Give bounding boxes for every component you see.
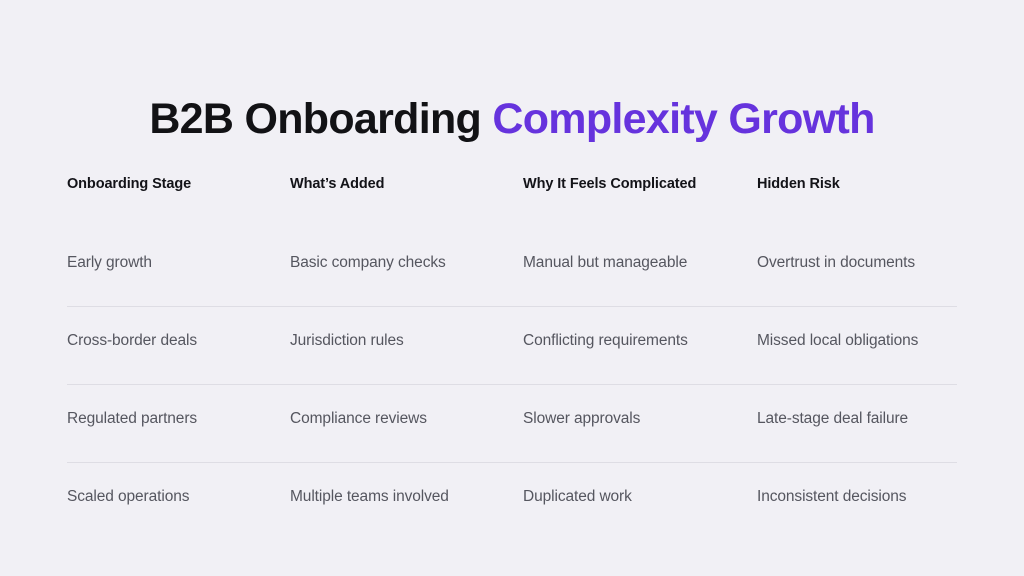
table-cell-risk: Late-stage deal failure	[757, 385, 957, 428]
table-cell-added: Compliance reviews	[290, 385, 523, 428]
table-cell-added: Jurisdiction rules	[290, 307, 523, 350]
table-column-header-onboarding-stage: Onboarding Stage	[67, 170, 290, 192]
table-row: Cross-border deals Jurisdiction rules Co…	[67, 307, 957, 385]
table-header-row: Onboarding Stage What’s Added Why It Fee…	[67, 170, 957, 229]
table-cell-complication: Slower approvals	[523, 385, 757, 428]
table-row: Early growth Basic company checks Manual…	[67, 229, 957, 307]
table-column-header-why-it-feels-complicated: Why It Feels Complicated	[523, 170, 757, 192]
table-cell-complication: Duplicated work	[523, 463, 757, 506]
page-title: B2B Onboarding Complexity Growth	[0, 95, 1024, 144]
page-title-accent: Complexity Growth	[492, 95, 874, 143]
table-column-header-hidden-risk: Hidden Risk	[757, 170, 957, 192]
table-row: Scaled operations Multiple teams involve…	[67, 463, 957, 541]
table-cell-stage: Early growth	[67, 229, 290, 272]
table-column-header-whats-added: What’s Added	[290, 170, 523, 192]
table-cell-added: Multiple teams involved	[290, 463, 523, 506]
table-cell-added: Basic company checks	[290, 229, 523, 272]
slide-canvas: B2B Onboarding Complexity Growth Onboard…	[0, 0, 1024, 576]
table-cell-risk: Missed local obligations	[757, 307, 957, 350]
table-cell-stage: Regulated partners	[67, 385, 290, 428]
page-title-primary: B2B Onboarding	[149, 95, 492, 143]
table-cell-stage: Scaled operations	[67, 463, 290, 506]
table-cell-complication: Manual but manageable	[523, 229, 757, 272]
table-cell-risk: Overtrust in documents	[757, 229, 957, 272]
table-cell-stage: Cross-border deals	[67, 307, 290, 350]
comparison-table: Onboarding Stage What’s Added Why It Fee…	[67, 170, 957, 541]
table-cell-complication: Conflicting requirements	[523, 307, 757, 350]
table-row: Regulated partners Compliance reviews Sl…	[67, 385, 957, 463]
table-cell-risk: Inconsistent decisions	[757, 463, 957, 506]
